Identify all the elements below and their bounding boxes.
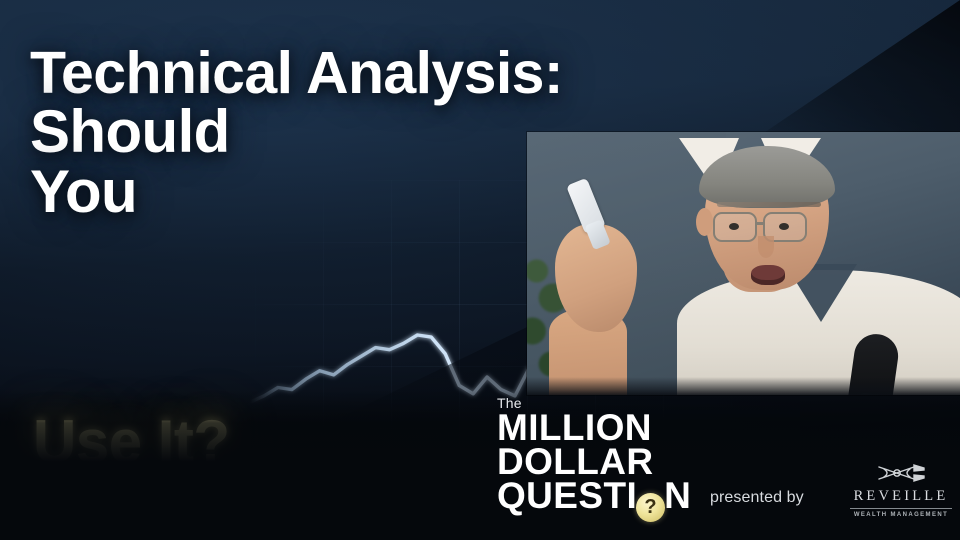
thumbnail-canvas: Technical Analysis: Should You Use It? T… <box>0 0 960 540</box>
title-line-2: Should <box>30 102 500 161</box>
presenter-mouth <box>751 265 785 285</box>
presenter-brow <box>717 202 821 207</box>
presented-by-label: presented by <box>710 489 804 507</box>
sponsor-divider <box>850 508 952 509</box>
sponsor-name: REVEILLE <box>850 488 952 505</box>
crossed-bugles-icon <box>850 463 952 484</box>
video-inset[interactable] <box>527 132 960 395</box>
show-logo-line-2: DOLLAR <box>497 445 691 479</box>
title-line-3: You <box>30 162 500 221</box>
sponsor-tagline: WEALTH MANAGEMENT <box>850 512 952 518</box>
presenter-nose <box>758 236 774 258</box>
show-logo-line-3: QUESTI?N <box>497 479 691 517</box>
presenter-ear-right <box>823 206 839 233</box>
presenter-eye-left <box>729 223 739 230</box>
question-mark-icon: ? <box>636 493 665 522</box>
brand-bar <box>0 390 960 540</box>
presenter-ear-left <box>696 208 713 236</box>
sponsor-logo: REVEILLE WEALTH MANAGEMENT <box>850 463 952 518</box>
show-logo-line-1: MILLION <box>497 411 691 445</box>
show-logo: The MILLION DOLLAR QUESTI?N <box>497 397 691 517</box>
page-title: Technical Analysis: Should You <box>30 44 500 221</box>
presenter-eye-right <box>779 223 789 230</box>
show-logo-line-3-after: N <box>664 475 691 516</box>
show-logo-line-3-before: QUESTI <box>497 475 637 516</box>
eyeglasses-bridge <box>756 222 765 225</box>
title-line-1: Technical Analysis: <box>30 44 500 102</box>
